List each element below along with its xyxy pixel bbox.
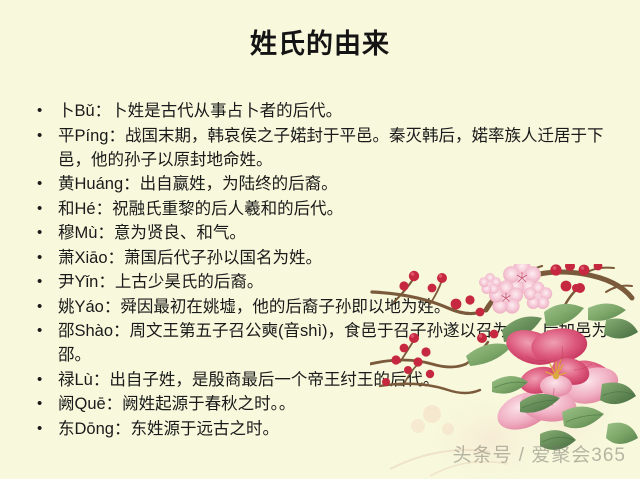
list-item: • 黄Huáng：出自嬴姓，为陆终的后裔。 bbox=[32, 172, 632, 196]
bullet-marker: • bbox=[37, 124, 42, 148]
list-item-text: 萧Xiāo：萧国后代子孙以国名为姓。 bbox=[58, 246, 632, 270]
list-item-text: 黄Huáng：出自嬴姓，为陆终的后裔。 bbox=[58, 172, 632, 196]
list-item-text: 东Dōng：东姓源于远古之时。 bbox=[58, 417, 632, 441]
bullet-marker: • bbox=[37, 368, 42, 392]
bullet-marker: • bbox=[37, 246, 42, 270]
bullet-list: • 卜Bǔ：卜姓是古代从事占卜者的后代。 • 平Píng：战国末期，韩哀侯之子婼… bbox=[32, 99, 632, 441]
list-item-text: 平Píng：战国末期，韩哀侯之子婼封于平邑。秦灭韩后，婼率族人迁居于下邑，他的孙… bbox=[58, 124, 632, 172]
list-item-text: 尹Yǐn：上古少昊氏的后裔。 bbox=[58, 270, 632, 294]
bullet-marker: • bbox=[37, 417, 42, 441]
list-item: • 和Hé：祝融氏重黎的后人羲和的后代。 bbox=[32, 197, 632, 221]
list-item: • 阙Quē：阙姓起源于春秋之时。。 bbox=[32, 392, 632, 416]
bullet-marker: • bbox=[37, 172, 42, 196]
list-item-text: 卜Bǔ：卜姓是古代从事占卜者的后代。 bbox=[58, 99, 632, 123]
list-item-text: 穆Mù：意为贤良、和气。 bbox=[58, 221, 632, 245]
list-item-text: 禄Lù：出自子姓，是殷商最后一个帝王纣王的后代。 bbox=[58, 368, 632, 392]
list-item: • 邵Shào：周文王第五子召公奭(音shì)，食邑于召子孙遂以召为氏，后加邑为… bbox=[32, 319, 632, 367]
bullet-marker: • bbox=[37, 392, 42, 416]
watermark-text: 头条号 / 爱聚会365 bbox=[452, 440, 626, 467]
list-item: • 穆Mù：意为贤良、和气。 bbox=[32, 221, 632, 245]
list-item: • 平Píng：战国末期，韩哀侯之子婼封于平邑。秦灭韩后，婼率族人迁居于下邑，他… bbox=[32, 124, 632, 172]
list-item: • 姚Yáo：舜因最初在姚墟，他的后裔子孙即以地为姓。 bbox=[32, 295, 632, 319]
list-item-text: 邵Shào：周文王第五子召公奭(音shì)，食邑于召子孙遂以召为氏，后加邑为邵。 bbox=[58, 319, 632, 367]
bullet-marker: • bbox=[37, 221, 42, 245]
list-item: • 卜Bǔ：卜姓是古代从事占卜者的后代。 bbox=[32, 99, 632, 123]
list-item-text: 姚Yáo：舜因最初在姚墟，他的后裔子孙即以地为姓。 bbox=[58, 295, 632, 319]
list-item: • 禄Lù：出自子姓，是殷商最后一个帝王纣王的后代。 bbox=[32, 368, 632, 392]
bullet-marker: • bbox=[37, 295, 42, 319]
bullet-marker: • bbox=[37, 319, 42, 343]
bullet-marker: • bbox=[37, 270, 42, 294]
list-item: • 尹Yǐn：上古少昊氏的后裔。 bbox=[32, 270, 632, 294]
list-item: • 东Dōng：东姓源于远古之时。 bbox=[32, 417, 632, 441]
slide-canvas: 姓氏的由来 • 卜Bǔ：卜姓是古代从事占卜者的后代。 • 平Píng：战国末期，… bbox=[0, 0, 640, 479]
list-item-text: 和Hé：祝融氏重黎的后人羲和的后代。 bbox=[58, 197, 632, 221]
list-item: • 萧Xiāo：萧国后代子孙以国名为姓。 bbox=[32, 246, 632, 270]
list-item-text: 阙Quē：阙姓起源于春秋之时。。 bbox=[58, 392, 632, 416]
bullet-marker: • bbox=[37, 197, 42, 221]
bullet-marker: • bbox=[37, 99, 42, 123]
page-title: 姓氏的由来 bbox=[0, 26, 640, 62]
